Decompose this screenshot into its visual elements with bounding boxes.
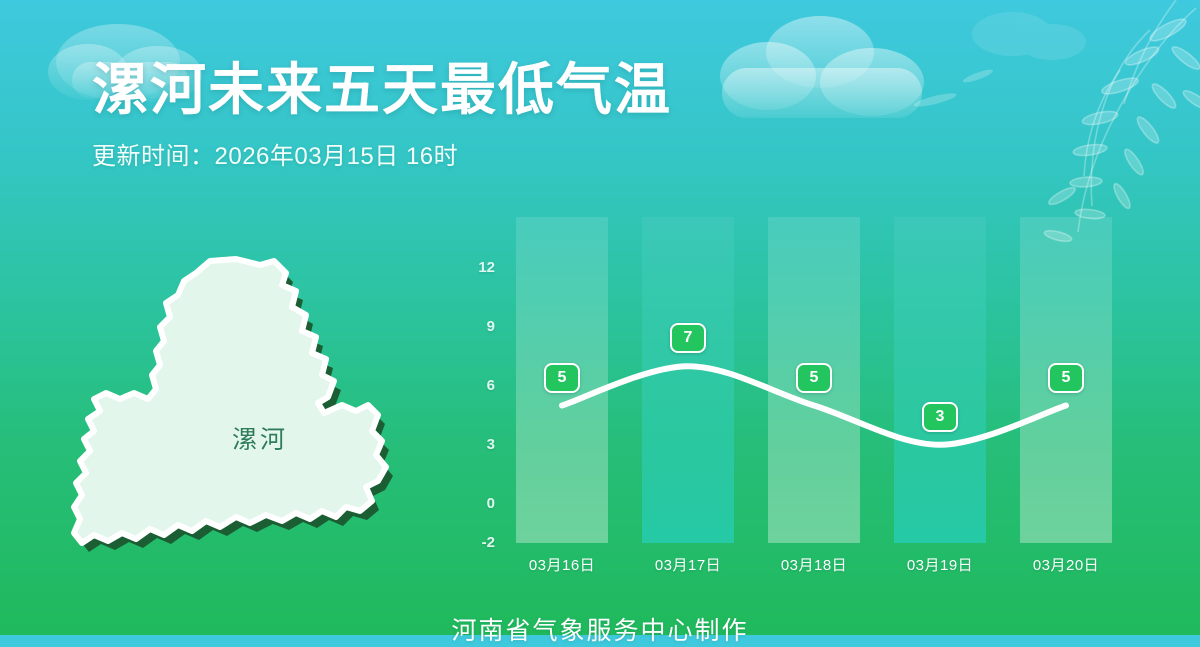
map-region-label: 漯河 bbox=[232, 420, 288, 456]
temperature-value-badge: 5 bbox=[544, 363, 580, 393]
temperature-value-badge: 5 bbox=[796, 363, 832, 393]
header: 漯河未来五天最低气温 更新时间：2026年03月15日 16时 bbox=[92, 58, 672, 171]
footer-credit: 河南省气象服务中心制作 bbox=[0, 611, 1200, 647]
cloud-icon-center bbox=[720, 16, 924, 118]
temperature-value-badge: 7 bbox=[670, 323, 706, 353]
update-time-text: 更新时间：2026年03月15日 16时 bbox=[92, 136, 672, 171]
cloud-icon-right bbox=[972, 12, 1086, 60]
temperature-value-badge: 3 bbox=[922, 402, 958, 432]
map-outline bbox=[74, 259, 386, 543]
page-title: 漯河未来五天最低气温 bbox=[92, 58, 672, 122]
temperature-chart: 129630-2 03月16日03月17日03月18日03月19日03月20日 … bbox=[455, 205, 1135, 575]
leaf-speck-decoration bbox=[913, 67, 995, 109]
temperature-value-badge: 5 bbox=[1048, 363, 1084, 393]
